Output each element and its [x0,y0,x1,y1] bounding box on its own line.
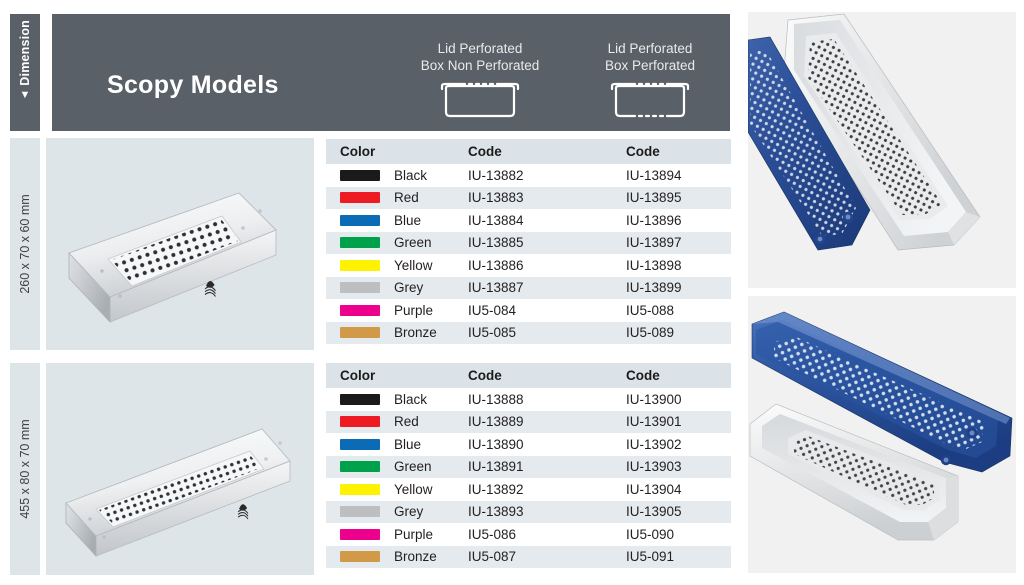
color-swatch [340,237,380,248]
dimension-label-text: 260 x 70 x 60 mm [18,194,32,293]
section-header-bar: Scopy Models Lid Perforated Box Non Perf… [52,14,730,131]
code-cell-1: IU-13892 [468,482,626,497]
code-cell-1: IU-13889 [468,414,626,429]
code-cell-1: IU5-087 [468,549,626,564]
header-column-line1: Lid Perforated [390,40,570,57]
code-cell-2: IU5-090 [626,527,731,542]
table-row: YellowIU-13886IU-13898 [326,254,731,277]
column-header-color: Color [326,144,468,159]
color-name: Purple [394,303,433,318]
code-cell-2: IU5-091 [626,549,731,564]
table-row: GreenIU-13885IU-13897 [326,232,731,255]
table-row: BlueIU-13884IU-13896 [326,209,731,232]
table-row: BronzeIU5-087IU5-091 [326,546,731,569]
table-row: PurpleIU5-086IU5-090 [326,523,731,546]
table-row: GreenIU-13891IU-13903 [326,456,731,479]
color-swatch [340,529,380,540]
color-swatch [340,484,380,495]
code-cell-1: IU-13882 [468,168,626,183]
dimension-label-text: 455 x 80 x 70 mm [18,419,32,518]
color-swatch [340,416,380,427]
code-cell-2: IU-13898 [626,258,731,273]
color-swatch [340,439,380,450]
color-name: Blue [394,437,421,452]
color-swatch [340,461,380,472]
box-lid-perforated-icon [390,82,570,122]
code-cell-1: IU5-085 [468,325,626,340]
color-name: Yellow [394,482,433,497]
code-cell-1: IU-13890 [468,437,626,452]
color-name: Black [394,392,427,407]
header-column-line2: Box Perforated [560,57,740,74]
dimension-label-260: 260 x 70 x 60 mm [10,138,40,350]
table-row: BronzeIU5-085IU5-089 [326,322,731,345]
code-cell-2: IU5-089 [626,325,731,340]
code-cell-2: IU-13900 [626,392,731,407]
color-swatch [340,215,380,226]
table-row: GreyIU-13893IU-13905 [326,501,731,524]
code-cell-2: IU-13899 [626,280,731,295]
color-name: Purple [394,527,433,542]
color-name: Grey [394,504,423,519]
code-cell-1: IU-13885 [468,235,626,250]
table-row: GreyIU-13887IU-13899 [326,277,731,300]
color-swatch [340,506,380,517]
dimension-label-455: 455 x 80 x 70 mm [10,363,40,575]
code-table-260: Color Code Code BlackIU-13882IU-13894 Re… [326,139,731,344]
color-name: Yellow [394,258,433,273]
code-cell-2: IU-13905 [626,504,731,519]
color-swatch [340,260,380,271]
code-cell-2: IU5-088 [626,303,731,318]
dimension-rail: Dimension ▼ [10,14,40,131]
color-swatch [340,282,380,293]
color-name: Bronze [394,325,437,340]
color-name: Green [394,459,432,474]
color-swatch [340,305,380,316]
column-header-code-2: Code [626,368,731,383]
code-cell-2: IU-13901 [626,414,731,429]
code-cell-1: IU-13884 [468,213,626,228]
code-cell-2: IU-13895 [626,190,731,205]
table-row: PurpleIU5-084IU5-088 [326,299,731,322]
table-header-row: Color Code Code [326,363,731,388]
column-header-code-1: Code [468,144,626,159]
color-name: Black [394,168,427,183]
color-swatch [340,192,380,203]
code-cell-1: IU-13891 [468,459,626,474]
color-swatch [340,327,380,338]
color-swatch [340,551,380,562]
color-name: Bronze [394,549,437,564]
table-row: BlackIU-13888IU-13900 [326,388,731,411]
color-swatch [340,170,380,181]
table-row: RedIU-13883IU-13895 [326,187,731,210]
color-name: Red [394,190,419,205]
code-cell-2: IU-13896 [626,213,731,228]
header-column-lid-perforated-box-non-perforated: Lid Perforated Box Non Perforated [390,40,570,122]
code-cell-2: IU-13903 [626,459,731,474]
table-row: BlueIU-13890IU-13902 [326,433,731,456]
column-header-code-2: Code [626,144,731,159]
code-cell-2: IU-13902 [626,437,731,452]
dimension-rail-label: Dimension [18,20,32,86]
column-header-code-1: Code [468,368,626,383]
code-table-455: Color Code Code BlackIU-13888IU-13900 Re… [326,363,731,568]
code-cell-2: IU-13894 [626,168,731,183]
column-header-color: Color [326,368,468,383]
gallery-photo-blue-lid-and-silver-tray [748,12,1016,288]
color-name: Red [394,414,419,429]
table-row: BlackIU-13882IU-13894 [326,164,731,187]
header-column-line2: Box Non Perforated [390,57,570,74]
code-cell-1: IU-13887 [468,280,626,295]
table-row: RedIU-13889IU-13901 [326,411,731,434]
box-lid-and-box-perforated-icon [560,82,740,122]
header-column-lid-perforated-box-perforated: Lid Perforated Box Perforated [560,40,740,122]
product-photo-455 [46,363,314,575]
gallery-photo-blue-lid-over-tray [748,296,1016,573]
page-title: Scopy Models [107,71,279,100]
color-name: Blue [394,213,421,228]
triangle-down-icon: ▼ [20,90,31,101]
code-cell-2: IU-13897 [626,235,731,250]
table-row: YellowIU-13892IU-13904 [326,478,731,501]
header-column-line1: Lid Perforated [560,40,740,57]
code-cell-2: IU-13904 [626,482,731,497]
product-photo-260 [46,138,314,350]
code-cell-1: IU-13883 [468,190,626,205]
color-name: Grey [394,280,423,295]
catalog-page: Dimension ▼ Scopy Models Lid Perforated … [0,0,1024,585]
code-cell-1: IU-13888 [468,392,626,407]
table-header-row: Color Code Code [326,139,731,164]
code-cell-1: IU5-086 [468,527,626,542]
code-cell-1: IU-13893 [468,504,626,519]
code-cell-1: IU-13886 [468,258,626,273]
color-name: Green [394,235,432,250]
color-swatch [340,394,380,405]
code-cell-1: IU5-084 [468,303,626,318]
